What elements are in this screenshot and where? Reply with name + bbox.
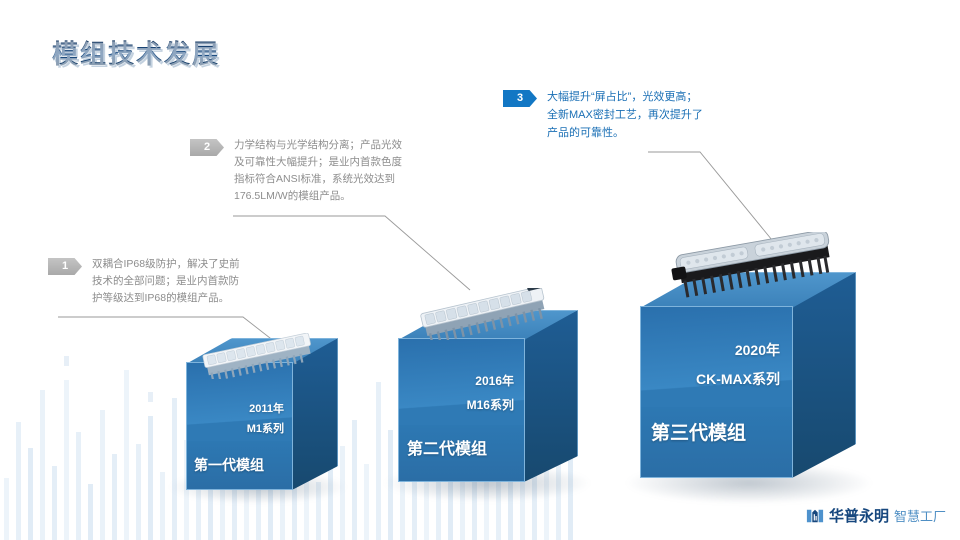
callout-2-badge: 2 bbox=[190, 139, 224, 156]
cube-1-generation: 第一代模组 bbox=[194, 455, 294, 475]
page-title: 模组技术发展 bbox=[52, 34, 220, 71]
cube-3-series: CK-MAX系列 bbox=[640, 369, 780, 389]
cube-1-year: 2011年 bbox=[186, 400, 284, 416]
huapu-bracket-logo-icon bbox=[806, 507, 824, 525]
callout-3-badge: 3 bbox=[503, 90, 537, 107]
cube-1-series: M1系列 bbox=[186, 420, 284, 436]
cube-3-generation: 第三代模组 bbox=[651, 418, 797, 445]
callout-1-text: 双耦合IP68级防护，解决了史前 技术的全部问题；是业内首款防 护等级达到IP6… bbox=[92, 256, 274, 307]
logo-sub-text: 智慧工厂 bbox=[894, 506, 946, 525]
callout-1-badge: 1 bbox=[48, 258, 82, 275]
led-module-silver-icon bbox=[412, 288, 562, 340]
callout-2-text: 力学结构与光学结构分离；产品光效 及可靠性大幅提升；是业内首款色度 指标符合AN… bbox=[234, 137, 414, 205]
cube-3-side-face bbox=[792, 272, 856, 478]
cube-2-year: 2016年 bbox=[398, 372, 514, 389]
slide-canvas: 模组技术发展 模组技术发展 1 双耦合IP68级防护，解决了史前 技术的全部问题… bbox=[0, 0, 960, 540]
led-module-max-icon bbox=[666, 232, 846, 300]
cube-2-series: M16系列 bbox=[398, 396, 514, 413]
cube-3-front-face bbox=[640, 306, 793, 478]
logo-brand-text: 华普永明 bbox=[829, 505, 889, 526]
cube-3-year: 2020年 bbox=[640, 340, 780, 360]
led-module-white-icon bbox=[196, 333, 326, 379]
company-logo: 华普永明 智慧工厂 bbox=[806, 505, 946, 526]
cube-2-generation: 第二代模组 bbox=[407, 435, 527, 459]
callout-3-text: 大幅提升“屏占比”，光效更高； 全新MAX密封工艺，再次提升了 产品的可靠性。 bbox=[547, 88, 797, 142]
